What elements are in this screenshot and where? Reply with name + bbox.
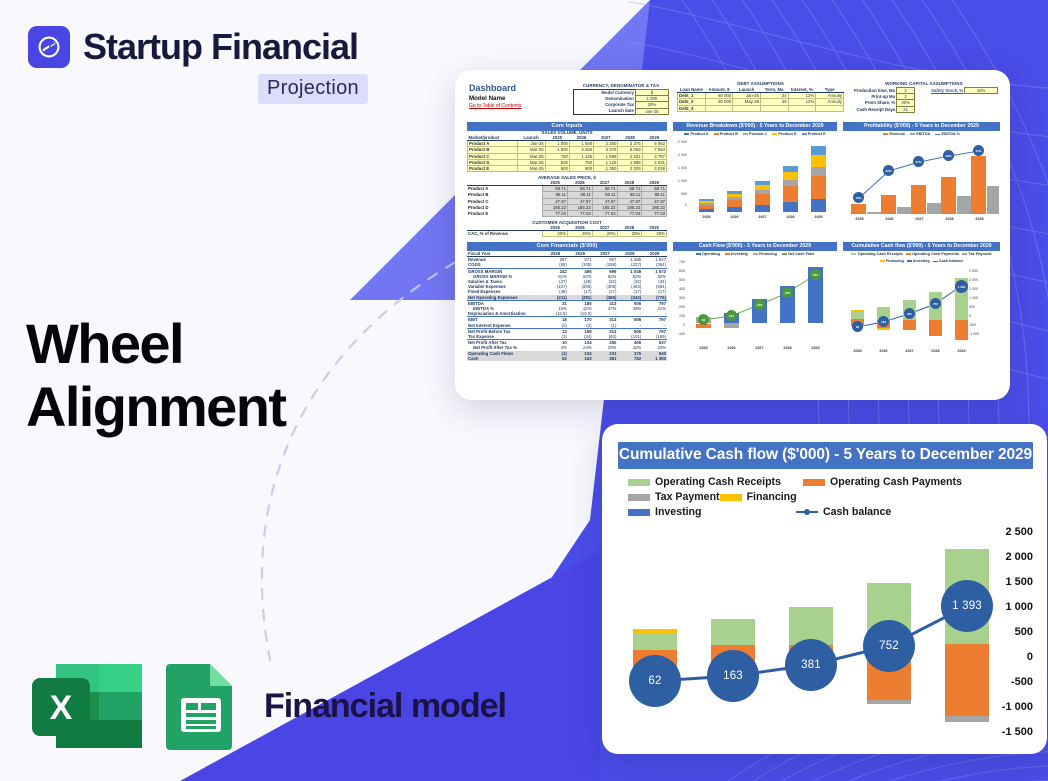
cash-balance-line xyxy=(843,265,1000,345)
legend-item: Cash balance xyxy=(933,259,964,263)
x-tick: 2026 xyxy=(703,753,763,754)
legend-item: Operating Cash Payments xyxy=(906,252,959,256)
bar xyxy=(783,166,798,212)
chart-legend: Operating Cash Receipts Operating Cash P… xyxy=(618,476,1033,521)
debt-table: Loan NameAmount, $ LaunchTerm, Mo Intere… xyxy=(677,87,844,112)
legend-item: Financing xyxy=(753,252,777,256)
x-tick: 2025 xyxy=(625,753,685,754)
legend-swatch-tax-payment xyxy=(628,494,650,501)
brand-e-icon xyxy=(28,26,70,68)
table-row: Product EMar-25 600900 1 3502 025 3 038 xyxy=(468,166,667,172)
legend-label: Operating Cash Payments xyxy=(830,476,962,488)
bar xyxy=(881,195,896,214)
x-tick: 2026 xyxy=(722,215,747,219)
x-tick: 2028 xyxy=(923,349,948,353)
bar xyxy=(851,204,866,214)
page-title-line1: Wheel xyxy=(26,312,285,375)
legend-item: Investing xyxy=(725,252,748,256)
legend-item: Product D xyxy=(772,132,796,136)
table-row: Cash Receipt Days 21 xyxy=(850,106,998,112)
data-bubble-2026: 163 xyxy=(707,650,759,702)
legend-item: Investing xyxy=(907,259,930,263)
mini-chart-profitability: Profitability ($'000) - 5 Years to Decem… xyxy=(843,122,1000,228)
legend-item: Product C xyxy=(743,132,767,136)
bar xyxy=(987,186,999,214)
page-title: Wheel Alignment xyxy=(26,312,285,439)
debt-block-title: DEBT ASSUMPTIONS xyxy=(677,81,844,86)
y-tick: 2 000 xyxy=(673,153,687,157)
bar xyxy=(897,207,912,214)
legend-item: Operating xyxy=(696,252,720,256)
footer-badges: X Financial model xyxy=(30,662,506,750)
bar xyxy=(929,320,942,336)
toc-link[interactable]: Go to Table of Contents xyxy=(469,103,521,109)
currency-table: Model Currency $ Denomination 1 000 Corp… xyxy=(573,89,669,115)
x-tick: 2026 xyxy=(877,217,902,221)
x-tick: 2027 xyxy=(907,217,932,221)
mini-chart-revenue-breakdown: Revenue Breakdown ($'000) - 5 Years to D… xyxy=(673,122,837,228)
bar xyxy=(903,320,916,330)
bar xyxy=(877,328,890,330)
chart-plot-area: 2 500 2 000 1 500 1 000 500 0 -500 -1 00… xyxy=(618,529,1033,695)
legend-item: Tax Payment xyxy=(628,491,720,503)
legend-item: Product E xyxy=(802,132,826,136)
footer-label: Financial model xyxy=(264,687,506,726)
x-tick: 2027 xyxy=(750,215,775,219)
legend-label: Operating Cash Receipts xyxy=(655,476,781,488)
legend-label: Financing xyxy=(747,491,797,503)
currency-block-title: CURRENCY, DENOMINATOR & TAX xyxy=(573,83,669,88)
table-row: Cash621633817521 393 xyxy=(467,356,667,361)
bar xyxy=(724,323,739,328)
brand-lockup: Startup Financial xyxy=(28,26,358,68)
mini-chart-legend: Product A Product B Product C Product D … xyxy=(673,132,837,136)
legend-item: Cash balance xyxy=(796,506,891,518)
x-tick: 2029 xyxy=(937,753,997,754)
cumulative-cash-flow-chart-card: Cumulative Cash flow ($'000) - 5 Years t… xyxy=(602,424,1047,754)
y-tick: 0 xyxy=(673,203,687,207)
legend-item: Operating Cash Receipts xyxy=(851,252,902,256)
x-tick: 2025 xyxy=(845,349,870,353)
sales-volume-table: Market/product Launch 20252026 20272028 … xyxy=(467,135,667,172)
dashboard-heading: Dashboard xyxy=(469,84,521,94)
chart-title: Cumulative Cash flow ($'000) - 5 Years t… xyxy=(618,442,1033,469)
mini-chart-title: Profitability ($'000) - 5 Years to Decem… xyxy=(843,122,1000,131)
poster-canvas: Startup Financial Projection Wheel Align… xyxy=(0,0,1048,781)
y-tick: 2 500 xyxy=(673,140,687,144)
working-capital-table: Production time, Mo 2 Safety Stock, % 10… xyxy=(850,87,998,113)
bar xyxy=(727,191,742,212)
table-row: CAC, % of Revenue 20%20% 20%20% 20% xyxy=(467,231,667,237)
legend-item: Tax Payment xyxy=(962,252,991,256)
bar xyxy=(971,156,986,214)
page-title-line2: Alignment xyxy=(26,375,285,438)
mini-chart-cash-flow: Cash Flow ($'000) - 5 Years to December … xyxy=(673,242,837,362)
legend-swatch-investing xyxy=(628,509,650,516)
core-financials-table: Fiscal Year 20252026 20272028 2029 Reven… xyxy=(467,251,667,361)
data-bubble: 1 393 xyxy=(955,280,968,293)
x-tick: 2029 xyxy=(967,217,992,221)
brand-subtitle-wrap: Projection xyxy=(258,74,368,104)
legend-swatch-cash-balance xyxy=(796,509,818,516)
table-row: Product E 77.0377.03 77.0377.03 77.03 xyxy=(467,211,667,217)
legend-swatch-operating-cash-receipts xyxy=(628,479,650,486)
data-bubble-2029: 1 393 xyxy=(941,580,993,632)
x-tick: 2026 xyxy=(719,346,744,350)
y-tick: 1 500 xyxy=(673,166,687,170)
legend-item: Product A xyxy=(684,132,708,136)
mini-chart-cumulative-cash-flow: Cumulative Cash flow ($'000) - 5 Years t… xyxy=(843,242,1000,362)
x-tick: 2027 xyxy=(781,753,841,754)
legend-item: Product B xyxy=(714,132,738,136)
x-tick: 2026 xyxy=(871,349,896,353)
legend-item: Net Cash Flow xyxy=(782,252,814,256)
model-name-label: Model Name xyxy=(469,95,521,102)
x-tick: 2029 xyxy=(949,349,974,353)
brand-title: Startup Financial xyxy=(83,29,358,65)
data-bubble-2028: 752 xyxy=(863,620,915,672)
mini-chart-title: Cash Flow ($'000) - 5 Years to December … xyxy=(673,242,837,251)
legend-label: Investing xyxy=(655,506,702,518)
legend-item: Financing xyxy=(720,491,895,503)
brand-subtitle: Projection xyxy=(258,74,368,104)
data-bubble-2027: 381 xyxy=(785,639,837,691)
dashboard-screenshot-card: Dashboard Model Name Go to Table of Cont… xyxy=(455,70,1010,400)
spreadsheet-dashboard: Dashboard Model Name Go to Table of Cont… xyxy=(455,70,1010,400)
x-tick: 2029 xyxy=(806,215,831,219)
y-tick: 500 xyxy=(673,192,687,196)
bar xyxy=(911,185,926,214)
bar xyxy=(867,212,882,214)
x-tick: 2027 xyxy=(897,349,922,353)
x-tick: 2025 xyxy=(847,217,872,221)
data-bubble-2025: 62 xyxy=(629,655,681,707)
x-tick: 2028 xyxy=(775,346,800,350)
legend-item: Operating Cash Payments xyxy=(803,476,971,488)
x-tick: 2029 xyxy=(803,346,828,350)
x-tick: 2028 xyxy=(859,753,919,754)
mini-chart-legend: Operating Cash Receipts Operating Cash P… xyxy=(843,252,1000,263)
legend-item: Revenue xyxy=(883,132,905,136)
legend-item: Investing xyxy=(628,506,796,518)
x-tick: 2025 xyxy=(691,346,716,350)
bar xyxy=(955,320,968,340)
mini-chart-title: Cumulative Cash flow ($'000) - 5 Years t… xyxy=(843,242,1000,251)
y-tick: 0 xyxy=(1027,651,1033,663)
legend-label: Cash balance xyxy=(823,506,891,518)
bar-2029 xyxy=(945,549,989,722)
bar xyxy=(851,312,864,319)
legend-item: Operating Cash Receipts xyxy=(628,476,803,488)
bar xyxy=(957,196,972,214)
mini-chart-legend: Revenue EBITDA EBITDA % xyxy=(843,132,1000,136)
y-tick: 1 000 xyxy=(673,179,687,183)
cumulative-cash-flow-chart: Cumulative Cash flow ($'000) - 5 Years t… xyxy=(602,424,1047,754)
bar xyxy=(699,199,714,212)
table-row: Debt_3 xyxy=(678,105,844,111)
x-tick: 2028 xyxy=(778,215,803,219)
table-row: Launch date Jan-25 xyxy=(574,108,669,114)
svg-text:X: X xyxy=(50,689,73,727)
legend-item: EBITDA xyxy=(910,132,930,136)
bar xyxy=(811,146,826,212)
legend-item: Financing xyxy=(880,259,904,263)
mini-chart-legend: Operating Investing Financing Net Cash F… xyxy=(673,252,837,256)
wc-block-title: WORKING CAPITAL ASSUMPTIONS xyxy=(850,81,998,86)
bar xyxy=(941,177,956,214)
legend-label: Tax Payment xyxy=(655,491,720,503)
bar xyxy=(927,203,942,214)
avg-price-table: 20252026 20272028 2029 Product A 58.7158… xyxy=(467,180,667,217)
legend-swatch-operating-cash-payments xyxy=(803,479,825,486)
x-tick: 2027 xyxy=(747,346,772,350)
cac-table: 20252026 20272028 2029 CAC, % of Revenue… xyxy=(467,225,667,237)
excel-icon: X xyxy=(30,662,146,750)
google-sheets-icon xyxy=(164,662,238,750)
legend-swatch-financing xyxy=(720,494,742,501)
bar xyxy=(755,181,770,212)
legend-item: EBITDA % xyxy=(935,132,960,136)
mini-chart-title: Revenue Breakdown ($'000) - 5 Years to D… xyxy=(673,122,837,131)
x-tick: 2028 xyxy=(937,217,962,221)
x-tick: 2025 xyxy=(694,215,719,219)
core-financials-banner: Core Financials ($'000) xyxy=(467,242,667,251)
